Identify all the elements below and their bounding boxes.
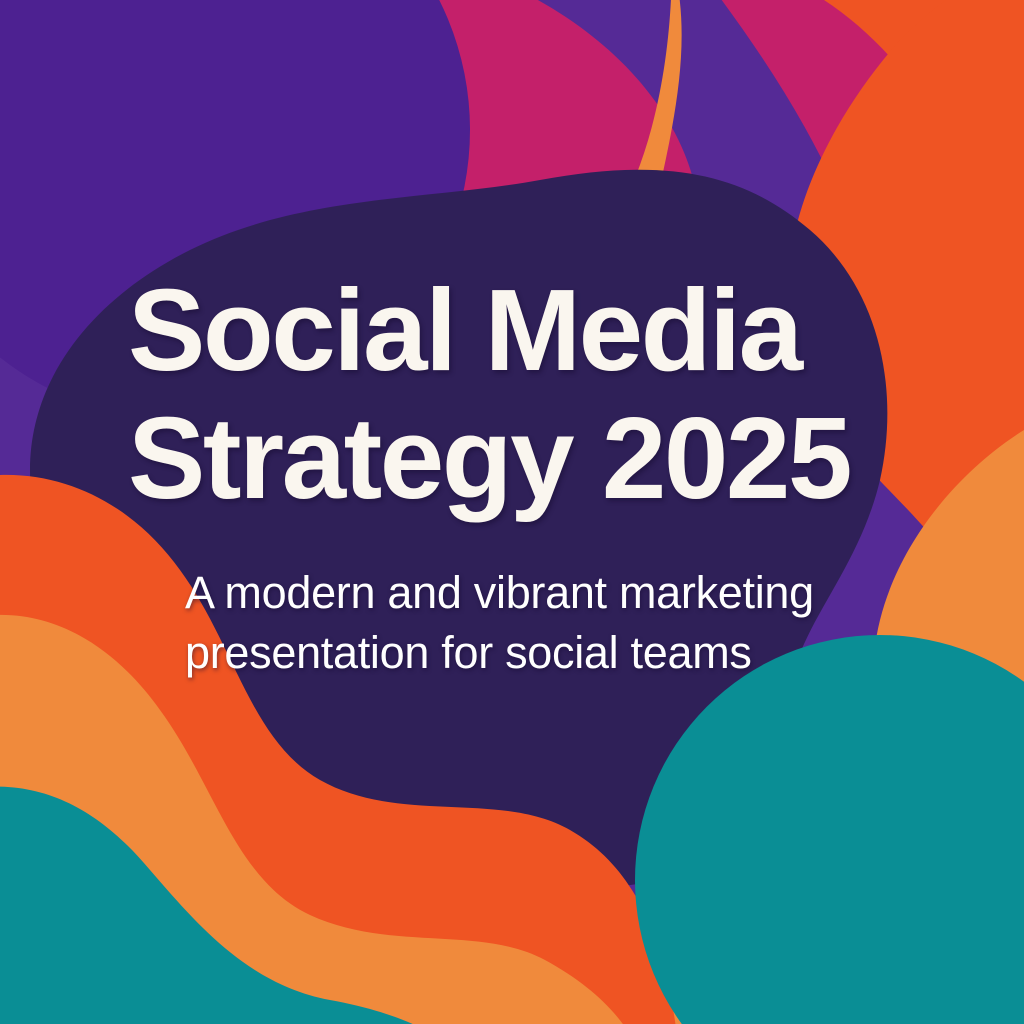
decorative-background-artwork — [0, 0, 1024, 1024]
title-slide: Social Media Strategy 2025 A modern and … — [0, 0, 1024, 1024]
